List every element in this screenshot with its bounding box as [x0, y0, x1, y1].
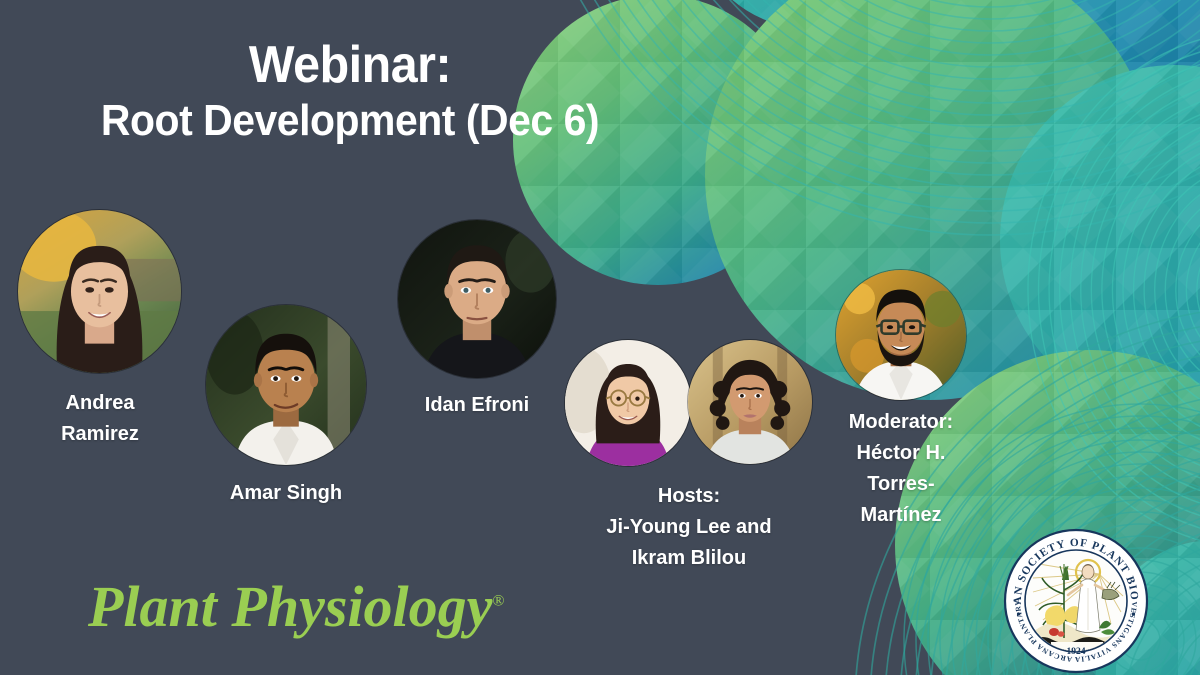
avatar-ji-young-lee: [565, 340, 691, 466]
caption-line: Ikram Blilou: [578, 543, 800, 574]
caption-amar-singh: Amar Singh: [206, 478, 366, 509]
journal-logo-text: Plant Physiology: [88, 574, 492, 639]
caption-line: Idan Efroni: [392, 390, 562, 421]
caption-line: Moderator:: [824, 407, 978, 438]
caption-line: Andrea: [19, 388, 181, 419]
caption-andrea-ramirez: Andrea Ramirez: [19, 388, 181, 450]
caption-line: Ji-Young Lee and: [578, 512, 800, 543]
poster-title: Webinar: Root Development (Dec 6): [0, 38, 700, 148]
avatar-idan-efroni: [398, 220, 556, 378]
avatar-andrea-ramirez: [18, 210, 181, 373]
caption-moderator: Moderator: Héctor H. Torres- Martínez: [824, 407, 978, 531]
registered-trademark-icon: ®: [492, 593, 504, 610]
webinar-promo-poster: Webinar: Root Development (Dec 6): [0, 0, 1200, 675]
caption-hosts: Hosts: Ji-Young Lee and Ikram Blilou: [578, 481, 800, 574]
caption-line: Torres-: [824, 469, 978, 500]
avatar-hector-torres-martinez: [836, 270, 966, 400]
caption-line: Amar Singh: [206, 478, 366, 509]
title-line-2: Root Development (Dec 6): [25, 93, 676, 148]
caption-idan-efroni: Idan Efroni: [392, 390, 562, 421]
aspb-seal-logo: AMERICAN SOCIETY OF PLANT BIOLOGISTS INV…: [1003, 528, 1149, 674]
caption-line: Hosts:: [578, 481, 800, 512]
title-line-1: Webinar:: [25, 38, 676, 93]
caption-line: Ramirez: [19, 419, 181, 450]
caption-line: Héctor H.: [824, 438, 978, 469]
plant-physiology-logo: Plant Physiology®: [88, 578, 505, 636]
caption-line: Martínez: [824, 500, 978, 531]
avatar-amar-singh: [206, 305, 366, 465]
avatar-ikram-blilou: [688, 340, 812, 464]
seal-year: 1924: [1067, 647, 1086, 657]
